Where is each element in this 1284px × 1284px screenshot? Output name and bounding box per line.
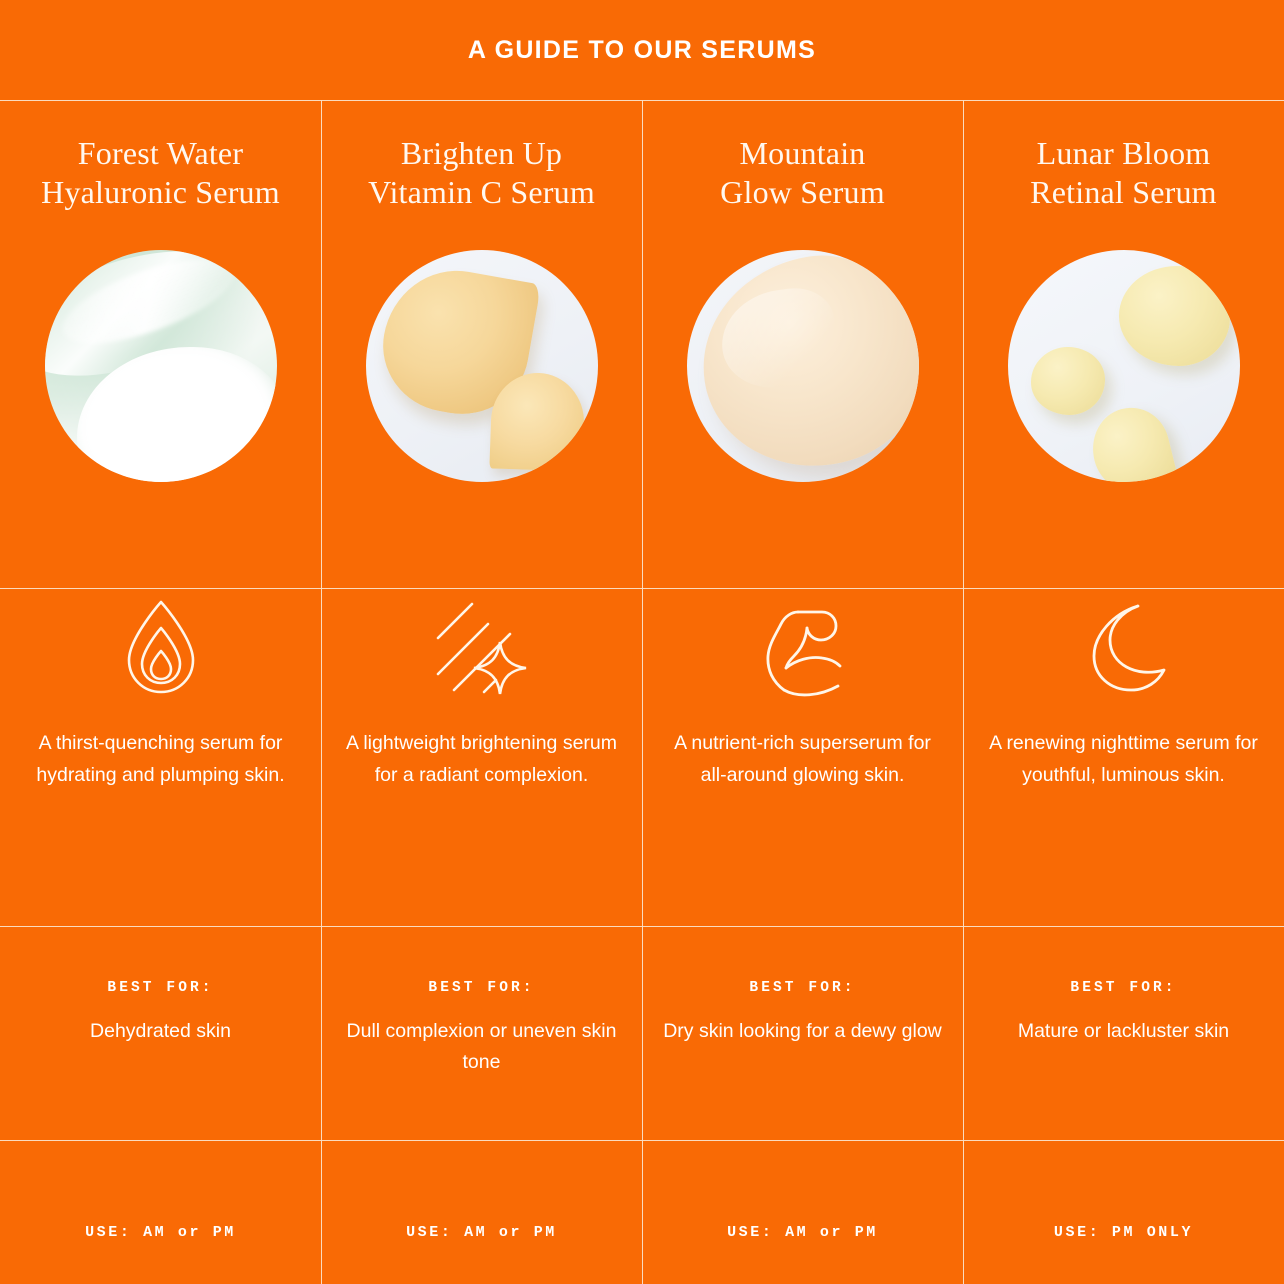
product-column-lunar-bloom: Lunar Bloom Retinal Serum A [963, 100, 1284, 1284]
best-for-cell: BEST FOR: Dry skin looking for a dewy gl… [642, 980, 963, 1160]
use-text: USE: PM ONLY [1054, 1224, 1193, 1241]
product-name: Lunar Bloom Retinal Serum [1020, 134, 1227, 212]
product-name-line-2: Retinal Serum [1030, 173, 1217, 212]
best-for-value: Dry skin looking for a dewy glow [647, 1016, 958, 1047]
use-text: USE: AM or PM [85, 1224, 236, 1241]
product-swatch-cell [963, 250, 1284, 580]
serum-blob-large [1119, 266, 1230, 366]
product-name-line-2: Hyaluronic Serum [41, 173, 280, 212]
header: A GUIDE TO OUR SERUMS [0, 0, 1284, 100]
product-name-line-1: Brighten Up [368, 134, 595, 173]
mint-green-gel-swatch [45, 250, 277, 482]
swatch-highlight [54, 250, 245, 360]
best-for-value: Dehydrated skin [74, 1016, 247, 1047]
description-cell: A lightweight brightening serum for a ra… [321, 728, 642, 838]
best-for-label: BEST FOR: [428, 980, 534, 996]
product-name-line-1: Mountain [720, 134, 885, 173]
product-columns: Forest Water Hyaluronic Serum [0, 100, 1284, 1284]
product-name: Forest Water Hyaluronic Serum [31, 134, 290, 212]
best-for-label: BEST FOR: [1070, 980, 1176, 996]
best-for-cell: BEST FOR: Dull complexion or uneven skin… [321, 980, 642, 1160]
product-swatch-cell [642, 250, 963, 580]
best-for-cell: BEST FOR: Mature or lackluster skin [963, 980, 1284, 1160]
serum-guide-infographic: A GUIDE TO OUR SERUMS Forest Water Hyalu… [0, 0, 1284, 1284]
best-for-value: Dull complexion or uneven skin tone [321, 1016, 642, 1078]
product-description: A renewing nighttime serum for youthful,… [963, 728, 1284, 792]
product-column-forest-water: Forest Water Hyaluronic Serum [0, 100, 321, 1284]
use-text: USE: AM or PM [727, 1224, 878, 1241]
benefit-icon-cell [642, 588, 963, 708]
best-for-cell: BEST FOR: Dehydrated skin [0, 980, 321, 1160]
product-name-cell: Brighten Up Vitamin C Serum [321, 100, 642, 246]
product-column-mountain-glow: Mountain Glow Serum [642, 100, 963, 1284]
use-cell: USE: AM or PM [642, 1180, 963, 1284]
benefit-icon-cell [321, 588, 642, 708]
product-name-cell: Lunar Bloom Retinal Serum [963, 100, 1284, 246]
golden-droplets-swatch [366, 250, 598, 482]
description-cell: A thirst-quenching serum for hydrating a… [0, 728, 321, 838]
description-cell: A nutrient-rich superserum for all-aroun… [642, 728, 963, 838]
use-text: USE: AM or PM [406, 1224, 557, 1241]
serum-blob-teardrop [1084, 400, 1178, 482]
product-name-cell: Forest Water Hyaluronic Serum [0, 100, 321, 246]
product-name-line-1: Forest Water [41, 134, 280, 173]
pale-yellow-blobs-swatch [1008, 250, 1240, 482]
page-title: A GUIDE TO OUR SERUMS [468, 36, 816, 65]
cream-blob [689, 250, 918, 480]
product-swatch-cell [321, 250, 642, 580]
serum-blob-small [1031, 347, 1105, 414]
product-name: Mountain Glow Serum [710, 134, 895, 212]
product-name-line-2: Glow Serum [720, 173, 885, 212]
use-cell: USE: PM ONLY [963, 1180, 1284, 1284]
product-name-line-2: Vitamin C Serum [368, 173, 595, 212]
product-description: A lightweight brightening serum for a ra… [321, 728, 642, 792]
product-name-line-1: Lunar Bloom [1030, 134, 1217, 173]
crescent-moon-icon [1076, 598, 1172, 698]
description-cell: A renewing nighttime serum for youthful,… [963, 728, 1284, 838]
nude-cream-swatch [687, 250, 919, 482]
product-name: Brighten Up Vitamin C Serum [358, 134, 605, 212]
best-for-value: Mature or lackluster skin [1002, 1016, 1245, 1047]
benefit-icon-cell [0, 588, 321, 708]
product-column-brighten-up: Brighten Up Vitamin C Serum [321, 100, 642, 1284]
product-description: A thirst-quenching serum for hydrating a… [0, 728, 321, 792]
best-for-label: BEST FOR: [107, 980, 213, 996]
use-cell: USE: AM or PM [0, 1180, 321, 1284]
sparkle-lines-icon [432, 598, 532, 698]
product-name-cell: Mountain Glow Serum [642, 100, 963, 246]
droplet-icon [116, 596, 206, 700]
best-for-label: BEST FOR: [749, 980, 855, 996]
product-description: A nutrient-rich superserum for all-aroun… [642, 728, 963, 792]
flexed-bicep-icon [754, 598, 852, 698]
use-cell: USE: AM or PM [321, 1180, 642, 1284]
benefit-icon-cell [963, 588, 1284, 708]
product-swatch-cell [0, 250, 321, 580]
